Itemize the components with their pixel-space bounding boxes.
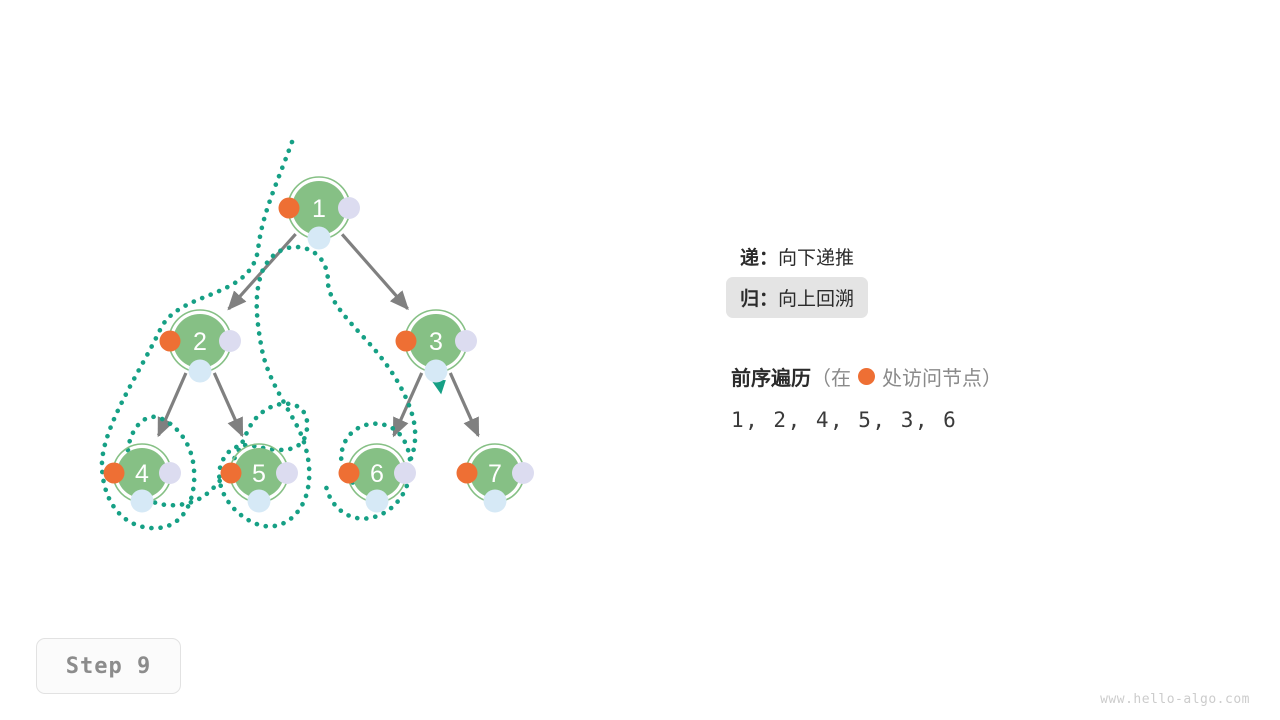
tree-edge — [158, 373, 185, 435]
return-marker-icon — [425, 360, 448, 383]
traversal-sequence: 1, 2, 4, 5, 3, 6 — [731, 408, 1251, 432]
tree-node-4[interactable]: 4 — [104, 444, 182, 513]
return-marker-icon — [131, 490, 154, 513]
tree-node-7[interactable]: 7 — [457, 444, 535, 513]
node-label: 6 — [370, 460, 384, 488]
binary-tree-diagram: 1234567 — [0, 0, 640, 620]
visit-marker-icon — [339, 463, 360, 484]
visit-marker-icon — [221, 463, 242, 484]
return-marker-icon — [484, 490, 507, 513]
node-label: 3 — [429, 328, 443, 356]
tree-node-2[interactable]: 2 — [160, 310, 242, 383]
legend-row-backtrack: 归： 向上回溯 — [726, 277, 868, 318]
right-child-marker-icon — [455, 330, 477, 352]
visit-marker-icon — [279, 198, 300, 219]
traversal-paren-close: 处访问节点） — [882, 362, 1002, 391]
watermark: www.hello-algo.com — [1100, 692, 1250, 707]
step-label: Step 9 — [66, 654, 151, 679]
tree-node-6[interactable]: 6 — [339, 444, 417, 513]
tree-node-3[interactable]: 3 — [396, 310, 478, 383]
traversal-heading: 前序遍历 （在 处访问节点） — [731, 362, 1251, 391]
tree-edge — [450, 373, 478, 436]
node-label: 4 — [135, 460, 149, 488]
tree-node-5[interactable]: 5 — [221, 444, 299, 513]
right-child-marker-icon — [276, 462, 298, 484]
right-child-marker-icon — [159, 462, 181, 484]
node-label: 1 — [312, 195, 326, 223]
tree-edge — [342, 234, 407, 308]
right-child-marker-icon — [394, 462, 416, 484]
node-label: 5 — [252, 460, 266, 488]
return-marker-icon — [308, 227, 331, 250]
legend-value: 向上回溯 — [778, 284, 854, 311]
node-label: 2 — [193, 328, 207, 356]
legend-value: 向下递推 — [778, 243, 854, 270]
visit-marker-icon — [160, 331, 181, 352]
traversal-info: 前序遍历 （在 处访问节点） 1, 2, 4, 5, 3, 6 — [731, 362, 1251, 432]
legend-key: 递： — [740, 243, 778, 270]
right-child-marker-icon — [219, 330, 241, 352]
return-marker-icon — [366, 490, 389, 513]
right-child-marker-icon — [512, 462, 534, 484]
tree-edge — [214, 373, 242, 436]
legend-row-recurse: 递： 向下递推 — [726, 236, 868, 277]
orange-dot-icon — [858, 368, 875, 385]
illustration-canvas: 1234567 递： 向下递推 归： 向上回溯 前序遍历 （在 处访问节点） 1… — [0, 0, 1280, 720]
visit-marker-icon — [396, 331, 417, 352]
return-marker-icon — [248, 490, 271, 513]
traversal-paren-open: （在 — [811, 362, 851, 391]
visit-marker-icon — [457, 463, 478, 484]
step-badge: Step 9 — [36, 638, 181, 694]
visit-marker-icon — [104, 463, 125, 484]
traversal-title: 前序遍历 — [731, 362, 811, 391]
right-child-marker-icon — [338, 197, 360, 219]
legend-key: 归： — [740, 284, 778, 311]
tree-nodes: 1234567 — [104, 177, 535, 513]
node-label: 7 — [488, 460, 502, 488]
legend: 递： 向下递推 归： 向上回溯 — [726, 236, 1246, 318]
return-marker-icon — [189, 360, 212, 383]
